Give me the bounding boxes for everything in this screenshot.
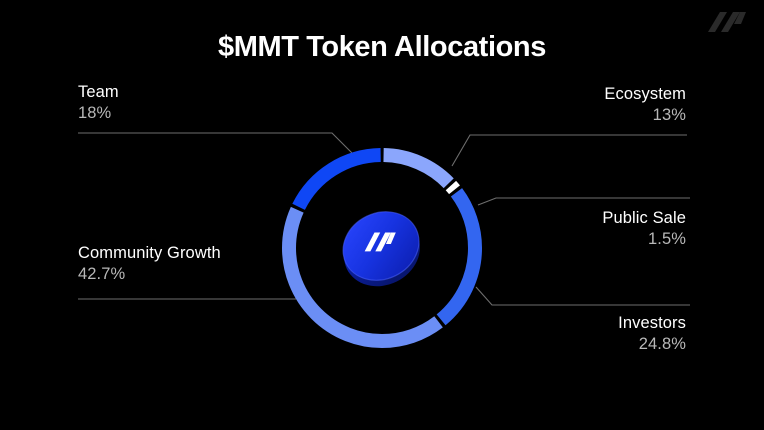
label-community-growth-name: Community Growth: [78, 243, 221, 264]
token-allocation-infographic: $MMT Token Allocations: [0, 0, 764, 430]
label-investors: Investors 24.8%: [618, 313, 686, 356]
mmt-token-coin-icon: [333, 198, 431, 296]
label-team-pct: 18%: [78, 103, 119, 124]
label-team: Team 18%: [78, 82, 119, 125]
label-ecosystem-pct: 13%: [604, 105, 686, 126]
leader-line-investors: [476, 287, 690, 305]
label-public-sale: Public Sale 1.5%: [602, 208, 686, 251]
label-public-sale-name: Public Sale: [602, 208, 686, 229]
label-investors-name: Investors: [618, 313, 686, 334]
page-title: $MMT Token Allocations: [0, 31, 764, 64]
label-investors-pct: 24.8%: [618, 334, 686, 355]
label-team-name: Team: [78, 82, 119, 103]
label-ecosystem-name: Ecosystem: [604, 84, 686, 105]
label-ecosystem: Ecosystem 13%: [604, 84, 686, 127]
leader-line-ecosystem: [452, 135, 687, 166]
label-public-sale-pct: 1.5%: [602, 229, 686, 250]
label-community-growth: Community Growth 42.7%: [78, 243, 221, 286]
leader-line-public-sale: [478, 198, 690, 205]
label-community-growth-pct: 42.7%: [78, 264, 221, 285]
